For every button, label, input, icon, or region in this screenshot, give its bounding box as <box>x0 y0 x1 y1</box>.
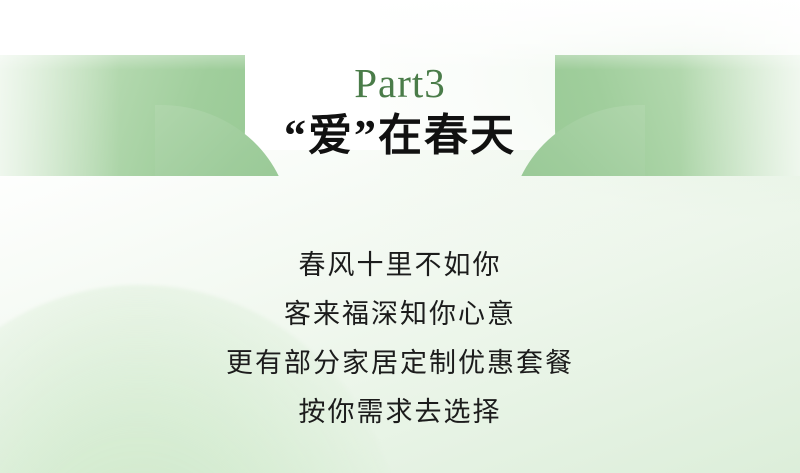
title-block: Part3 “爱”在春天 <box>0 62 800 161</box>
body-text-block: 春风十里不如你 客来福深知你心意 更有部分家居定制优惠套餐 按你需求去选择 <box>0 252 800 426</box>
body-line-1: 春风十里不如你 <box>0 252 800 279</box>
page-title: “爱”在春天 <box>0 111 800 160</box>
part-label: Part3 <box>0 62 800 105</box>
poster-canvas: Part3 “爱”在春天 春风十里不如你 客来福深知你心意 更有部分家居定制优惠… <box>0 0 800 473</box>
body-line-3: 更有部分家居定制优惠套餐 <box>0 350 800 377</box>
body-line-2: 客来福深知你心意 <box>0 301 800 328</box>
body-line-4: 按你需求去选择 <box>0 399 800 426</box>
